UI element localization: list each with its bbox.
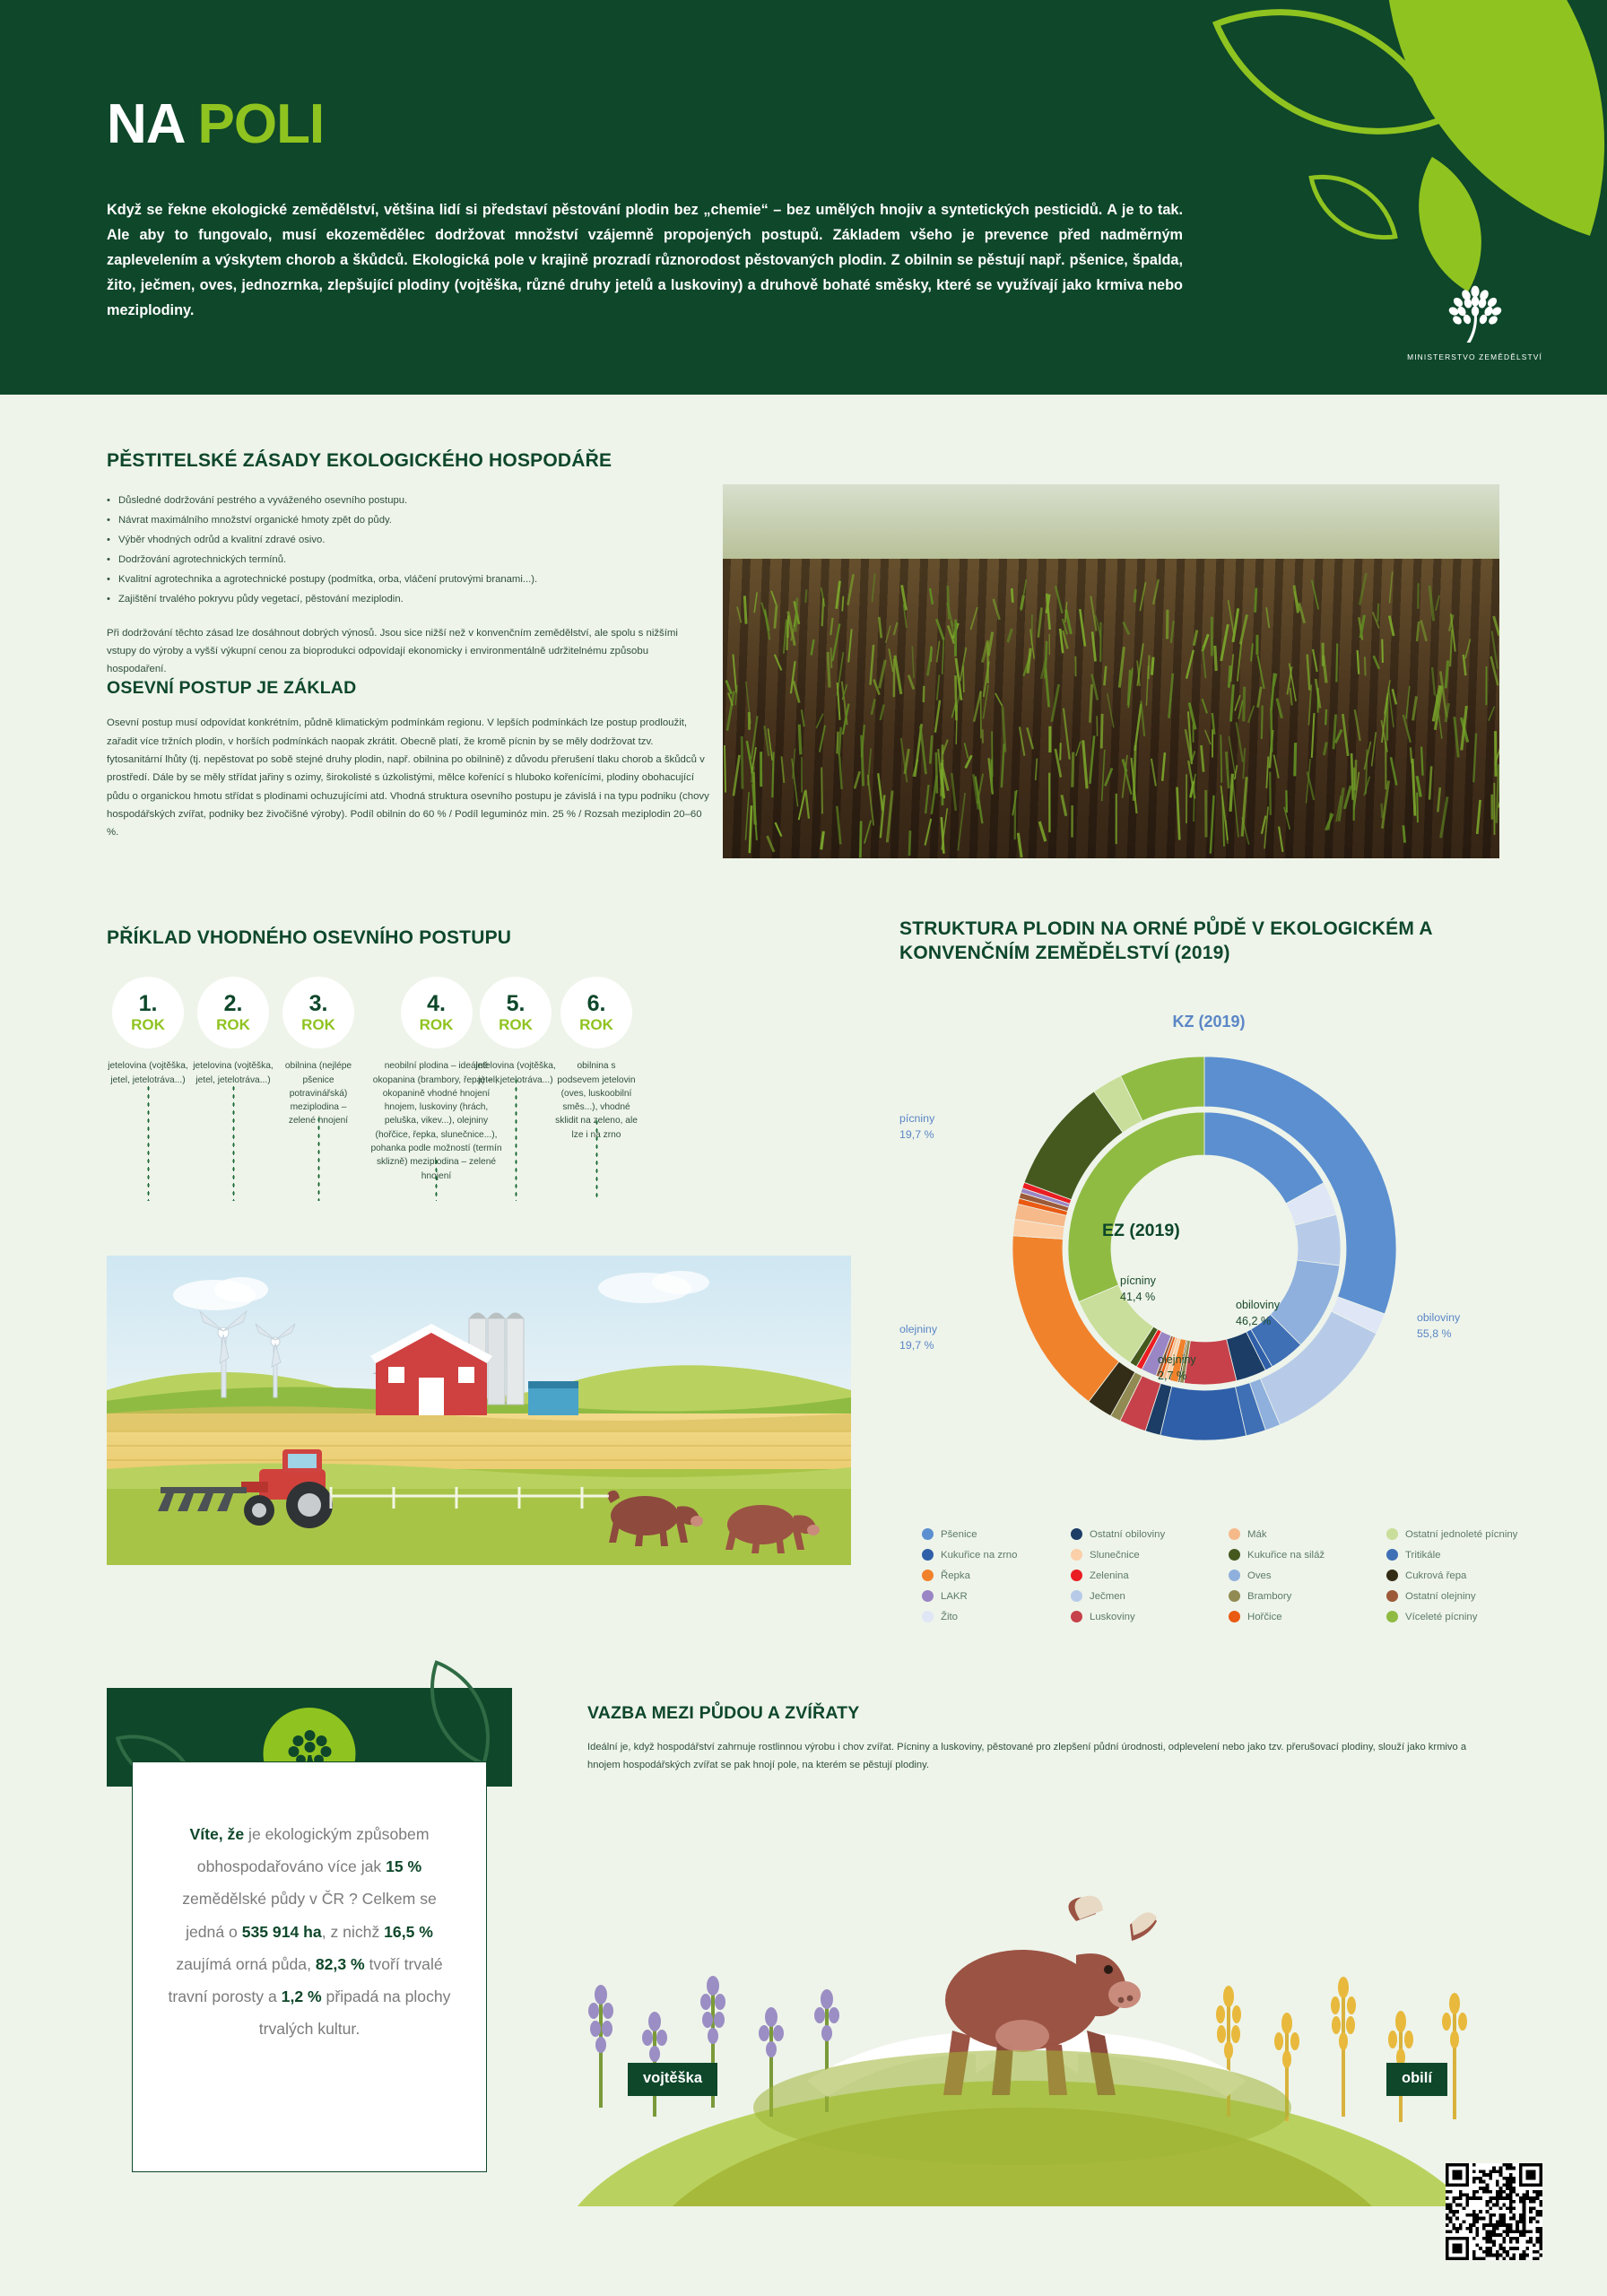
steps-section: PŘÍKLAD VHODNÉHO OSEVNÍHO POSTUPU 1.ROKj… <box>107 926 905 1201</box>
legend-color-swatch <box>1229 1590 1240 1602</box>
legend-label: Ostatní jednoleté pícniny <box>1405 1529 1517 1540</box>
list-item: Důsledné dodržování pestrého a vyváženéh… <box>107 491 709 510</box>
list-item: Zajištění trvalého pokryvu půdy vegetací… <box>107 589 709 609</box>
step-number: 6. <box>587 993 606 1015</box>
chart-section: STRUKTURA PLODIN NA ORNÉ PŮDĚ V EKOLOGIC… <box>899 917 1518 1551</box>
cycle-illustration <box>538 1812 1507 2206</box>
step-year-2: 2.ROKjetelovina (vojtěška, jetel, jetelo… <box>192 977 274 1087</box>
steps-list: 1.ROKjetelovina (vojtěška, jetel, jetelo… <box>107 977 905 1201</box>
pill-vojteska: vojtěška <box>628 2063 717 2096</box>
legend-color-swatch <box>1386 1590 1398 1602</box>
step-year-word: ROK <box>579 1017 613 1032</box>
legend-label: Ostatní obiloviny <box>1090 1529 1165 1540</box>
donut-chart: KZ (2019) EZ (2019) pícniny 19,7 % olejn… <box>899 977 1518 1551</box>
step-year-word: ROK <box>420 1017 454 1032</box>
legend-label: Slunečnice <box>1090 1550 1140 1561</box>
step-year-3: 3.ROKobilnina (nejlépe pšenice potraviná… <box>277 977 360 1127</box>
ministry-logo: MINISTERSTVO ZEMĚDĚLSTVÍ <box>1407 285 1542 361</box>
legend-color-swatch <box>1071 1570 1082 1581</box>
principles-heading: PĚSTITELSKÉ ZÁSADY EKOLOGICKÉHO HOSPODÁŘ… <box>107 448 709 473</box>
inner-label-picniny: pícniny 41,4 % <box>1120 1273 1156 1306</box>
legend-label: Oves <box>1247 1570 1272 1581</box>
inner-label-olejniny: olejniny 2,7 % <box>1158 1352 1196 1385</box>
soil-animal-paragraph: Ideální je, když hospodářství zahrnuje r… <box>587 1739 1489 1774</box>
legend-label: LAKR <box>941 1591 968 1602</box>
legend-label: Ječmen <box>1090 1591 1125 1602</box>
step-circle-1: 1.ROK <box>112 977 184 1048</box>
did-you-know-card: Víte, že je ekologickým způsobem obhospo… <box>132 1761 487 2172</box>
step-number: 3. <box>309 993 328 1015</box>
field-photo: Foto: Martin Matěj <box>723 484 1499 858</box>
chart-heading: STRUKTURA PLODIN NA ORNÉ PŮDĚ V EKOLOGIC… <box>899 917 1518 966</box>
step-circle-4: 4.ROK <box>401 977 473 1048</box>
step-connector-3 <box>317 1116 320 1201</box>
legend-color-swatch <box>922 1570 934 1581</box>
inner-label-obiloviny: obiloviny 46,2 % <box>1236 1297 1280 1330</box>
legend-item: Tritikále <box>1386 1549 1550 1561</box>
legend-color-swatch <box>1071 1590 1082 1602</box>
legend-item: Brambory <box>1229 1590 1386 1602</box>
legend-item: Ostatní olejniny <box>1386 1590 1550 1602</box>
step-number: 2. <box>224 993 243 1015</box>
step-circle-2: 2.ROK <box>197 977 269 1048</box>
step-text: jetelovina (vojtěška, jetel, jetelotráva… <box>192 1059 274 1087</box>
legend-label: Řepka <box>941 1570 970 1581</box>
legend-color-swatch <box>1229 1528 1240 1540</box>
legend-item: Ostatní jednoleté pícniny <box>1386 1528 1550 1540</box>
list-item: Dodržování agrotechnických termínů. <box>107 550 709 570</box>
steps-heading: PŘÍKLAD VHODNÉHO OSEVNÍHO POSTUPU <box>107 926 905 950</box>
rotation-paragraph: Osevní postup musí odpovídat konkrétním,… <box>107 714 709 841</box>
qr-code[interactable] <box>1446 2163 1542 2260</box>
legend-color-swatch <box>1229 1611 1240 1622</box>
intro-paragraph: Když se řekne ekologické zemědělství, vě… <box>107 197 1183 323</box>
legend-color-swatch <box>1386 1570 1398 1581</box>
legend-item: Řepka <box>922 1570 1071 1581</box>
page-header: NA POLI Když se řekne ekologické zeměděl… <box>0 0 1607 395</box>
soil-animal-section: VAZBA MEZI PŮDOU A ZVÍŘATY Ideální je, k… <box>587 1702 1493 1775</box>
step-year-word: ROK <box>499 1017 533 1032</box>
farm-illustration <box>107 1256 851 1565</box>
legend-label: Brambory <box>1247 1591 1291 1602</box>
step-year-5: 5.ROKjetelovina (vojtěška, jetel, jetelo… <box>474 977 557 1087</box>
tree-logo-icon <box>1446 285 1504 344</box>
legend-label: Luskoviny <box>1090 1612 1135 1622</box>
rotation-heading: OSEVNÍ POSTUP JE ZÁKLAD <box>107 677 709 700</box>
legend-color-swatch <box>1386 1611 1398 1622</box>
legend-color-swatch <box>1071 1528 1082 1540</box>
legend-item: Ječmen <box>1071 1590 1229 1602</box>
legend-item: Oves <box>1229 1570 1386 1581</box>
legend-color-swatch <box>922 1590 934 1602</box>
legend-item: LAKR <box>922 1590 1071 1602</box>
step-connector-4 <box>435 1158 438 1201</box>
legend-color-swatch <box>1071 1549 1082 1561</box>
page-title-accent: POLI <box>197 93 324 155</box>
step-connector-6 <box>595 1118 598 1201</box>
step-number: 5. <box>507 993 526 1015</box>
legend-item: Víceleté pícniny <box>1386 1611 1550 1622</box>
step-connector-1 <box>147 1084 150 1201</box>
step-year-word: ROK <box>131 1017 165 1032</box>
legend-item: Zelenina <box>1071 1570 1229 1581</box>
principles-list: Důsledné dodržování pestrého a vyváženéh… <box>107 491 709 609</box>
step-circle-3: 3.ROK <box>282 977 354 1048</box>
step-year-word: ROK <box>301 1017 335 1032</box>
step-text: jetelovina (vojtěška, jetel, jetelotráva… <box>107 1059 189 1087</box>
legend-color-swatch <box>922 1549 934 1561</box>
legend-label: Mák <box>1247 1529 1267 1540</box>
legend-color-swatch <box>1229 1570 1240 1581</box>
legend-label: Cukrová řepa <box>1405 1570 1466 1581</box>
step-circle-6: 6.ROK <box>560 977 632 1048</box>
legend-item: Mák <box>1229 1528 1386 1540</box>
step-year-word: ROK <box>216 1017 250 1032</box>
legend-color-swatch <box>1386 1528 1398 1540</box>
legend-item: Slunečnice <box>1071 1549 1229 1561</box>
photo-sprouts <box>723 548 1499 858</box>
did-you-know-box: Víte, že je ekologickým způsobem obhospo… <box>107 1688 512 2172</box>
legend-item: Kukuřice na siláž <box>1229 1549 1386 1561</box>
donut-segment <box>1160 1386 1247 1439</box>
legend-item: Žito <box>922 1611 1071 1622</box>
rotation-section: OSEVNÍ POSTUP JE ZÁKLAD Osevní postup mu… <box>107 677 709 841</box>
legend-label: Hořčice <box>1247 1612 1282 1622</box>
leaf-small-outline-decoration-icon <box>1308 162 1398 252</box>
step-number: 4. <box>427 993 446 1015</box>
legend-label: Víceleté pícniny <box>1405 1612 1477 1622</box>
legend-label: Zelenina <box>1090 1570 1129 1581</box>
legend-color-swatch <box>922 1611 934 1622</box>
legend-item: Ostatní obiloviny <box>1071 1528 1229 1540</box>
principles-paragraph: Při dodržování těchto zásad lze dosáhnou… <box>107 625 709 678</box>
inner-ring-title: EZ (2019) <box>1102 1221 1180 1241</box>
step-connector-2 <box>232 1084 235 1201</box>
principles-section: PĚSTITELSKÉ ZÁSADY EKOLOGICKÉHO HOSPODÁŘ… <box>107 448 709 678</box>
legend-label: Žito <box>941 1612 958 1622</box>
chart-legend: PšeniceOstatní obilovinyMákOstatní jedno… <box>922 1528 1550 1622</box>
legend-color-swatch <box>1071 1611 1082 1622</box>
did-you-know-text: Víte, že je ekologickým způsobem obhospo… <box>163 1818 456 2046</box>
page-title-white: NA <box>107 93 183 155</box>
legend-label: Kukuřice na zrno <box>941 1550 1017 1561</box>
legend-label: Tritikále <box>1405 1550 1440 1561</box>
legend-label: Pšenice <box>941 1529 977 1540</box>
legend-color-swatch <box>1229 1549 1240 1561</box>
legend-color-swatch <box>922 1528 934 1540</box>
legend-item: Hořčice <box>1229 1611 1386 1622</box>
legend-label: Ostatní olejniny <box>1405 1591 1476 1602</box>
cycle-scene-icon <box>538 1812 1507 2206</box>
legend-color-swatch <box>1386 1549 1398 1561</box>
outer-label-olejniny: olejniny 19,7 % <box>899 1322 937 1354</box>
legend-item: Cukrová řepa <box>1386 1570 1550 1581</box>
step-year-1: 1.ROKjetelovina (vojtěška, jetel, jetelo… <box>107 977 189 1087</box>
legend-item: Pšenice <box>922 1528 1071 1540</box>
outer-label-picniny: pícniny 19,7 % <box>899 1111 934 1144</box>
legend-item: Kukuřice na zrno <box>922 1549 1071 1561</box>
outer-label-obiloviny: obiloviny 55,8 % <box>1417 1310 1460 1343</box>
legend-item: Luskoviny <box>1071 1611 1229 1622</box>
step-connector-5 <box>515 1077 517 1201</box>
page-title: NA POLI <box>107 97 324 152</box>
leaf-outline-icon <box>407 1660 513 1766</box>
list-item: Kvalitní agrotechnika a agrotechnické po… <box>107 570 709 589</box>
ministry-label: MINISTERSTVO ZEMĚDĚLSTVÍ <box>1407 352 1542 361</box>
soil-animal-heading: VAZBA MEZI PŮDOU A ZVÍŘATY <box>587 1702 1493 1725</box>
farm-scene-icon <box>107 1256 851 1565</box>
pill-obili: obilí <box>1386 2063 1447 2096</box>
legend-label: Kukuřice na siláž <box>1247 1550 1325 1561</box>
step-circle-5: 5.ROK <box>480 977 552 1048</box>
step-year-6: 6.ROKobilnina s podsevem jetelovin (oves… <box>555 977 638 1142</box>
outer-ring-title: KZ (2019) <box>899 1013 1518 1031</box>
donut-rings <box>994 1038 1415 1459</box>
list-item: Výběr vhodných odrůd a kvalitní zdravé o… <box>107 530 709 550</box>
list-item: Návrat maximálního množství organické hm… <box>107 510 709 530</box>
step-number: 1. <box>139 993 158 1015</box>
